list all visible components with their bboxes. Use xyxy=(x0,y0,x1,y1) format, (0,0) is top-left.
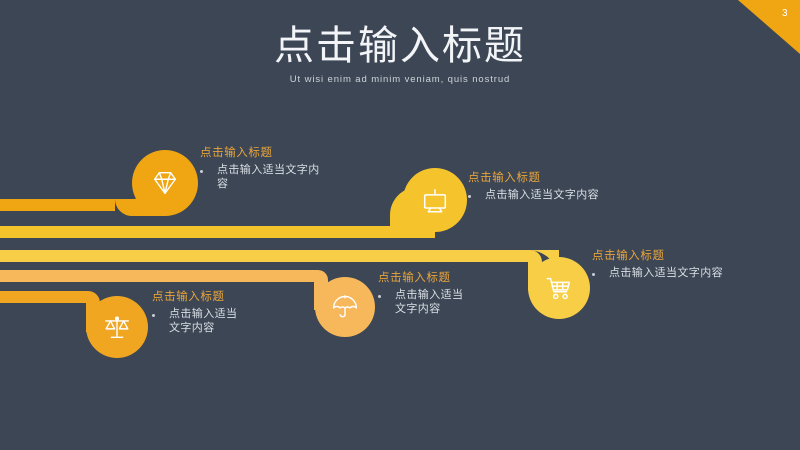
umbrella-icon xyxy=(331,293,359,321)
page-subtitle: Ut wisi enim ad minim veniam, quis nostr… xyxy=(0,74,800,85)
item-text-diamond: 点击输入标题 点击输入适当文字内容 xyxy=(200,146,330,191)
icon-circle-scales[interactable] xyxy=(86,296,148,358)
item-text-tv: 点击输入标题 点击输入适当文字内容 xyxy=(468,171,668,202)
item-body-scales: 点击输入适当文字内容 xyxy=(169,307,243,335)
icon-circle-umbrella[interactable] xyxy=(315,277,375,337)
slide-heading: 点击输入标题 Ut wisi enim ad minim veniam, qui… xyxy=(0,22,800,85)
item-text-umbrella: 点击输入标题 点击输入适当文字内容 xyxy=(378,271,498,316)
diamond-icon xyxy=(150,168,180,198)
item-body-row-cart: 点击输入适当文字内容 xyxy=(592,266,792,280)
item-title-scales: 点击输入标题 xyxy=(152,290,272,304)
item-body-tv: 点击输入适当文字内容 xyxy=(485,188,599,202)
item-body-row-umbrella: 点击输入适当文字内容 xyxy=(378,288,498,316)
item-text-cart: 点击输入标题 点击输入适当文字内容 xyxy=(592,249,792,280)
item-body-row-scales: 点击输入适当文字内容 xyxy=(152,307,272,335)
item-body-umbrella: 点击输入适当文字内容 xyxy=(395,288,469,316)
item-title-tv: 点击输入标题 xyxy=(468,171,668,185)
television-icon xyxy=(420,185,450,215)
bullet-icon xyxy=(200,170,203,173)
bullet-icon xyxy=(152,314,155,317)
balance-scales-icon xyxy=(102,312,132,342)
bullet-icon xyxy=(592,273,595,276)
slide-canvas: 3 点击输入标题 Ut wisi enim ad minim veniam, q… xyxy=(0,0,800,450)
item-body-row-tv: 点击输入适当文字内容 xyxy=(468,188,668,202)
shopping-cart-icon xyxy=(544,273,574,303)
item-title-cart: 点击输入标题 xyxy=(592,249,792,263)
page-title: 点击输入标题 xyxy=(0,22,800,70)
item-body-cart: 点击输入适当文字内容 xyxy=(609,266,723,280)
item-title-diamond: 点击输入标题 xyxy=(200,146,330,160)
slide-number: 3 xyxy=(782,9,788,19)
icon-circle-tv[interactable] xyxy=(403,168,467,232)
ribbon-path-scales xyxy=(0,291,100,332)
bullet-icon xyxy=(468,195,471,198)
icon-circle-diamond[interactable] xyxy=(132,150,198,216)
item-title-umbrella: 点击输入标题 xyxy=(378,271,498,285)
item-body-row-diamond: 点击输入适当文字内容 xyxy=(200,163,330,191)
item-text-scales: 点击输入标题 点击输入适当文字内容 xyxy=(152,290,272,335)
item-body-diamond: 点击输入适当文字内容 xyxy=(217,163,330,191)
icon-circle-cart[interactable] xyxy=(528,257,590,319)
bullet-icon xyxy=(378,295,381,298)
